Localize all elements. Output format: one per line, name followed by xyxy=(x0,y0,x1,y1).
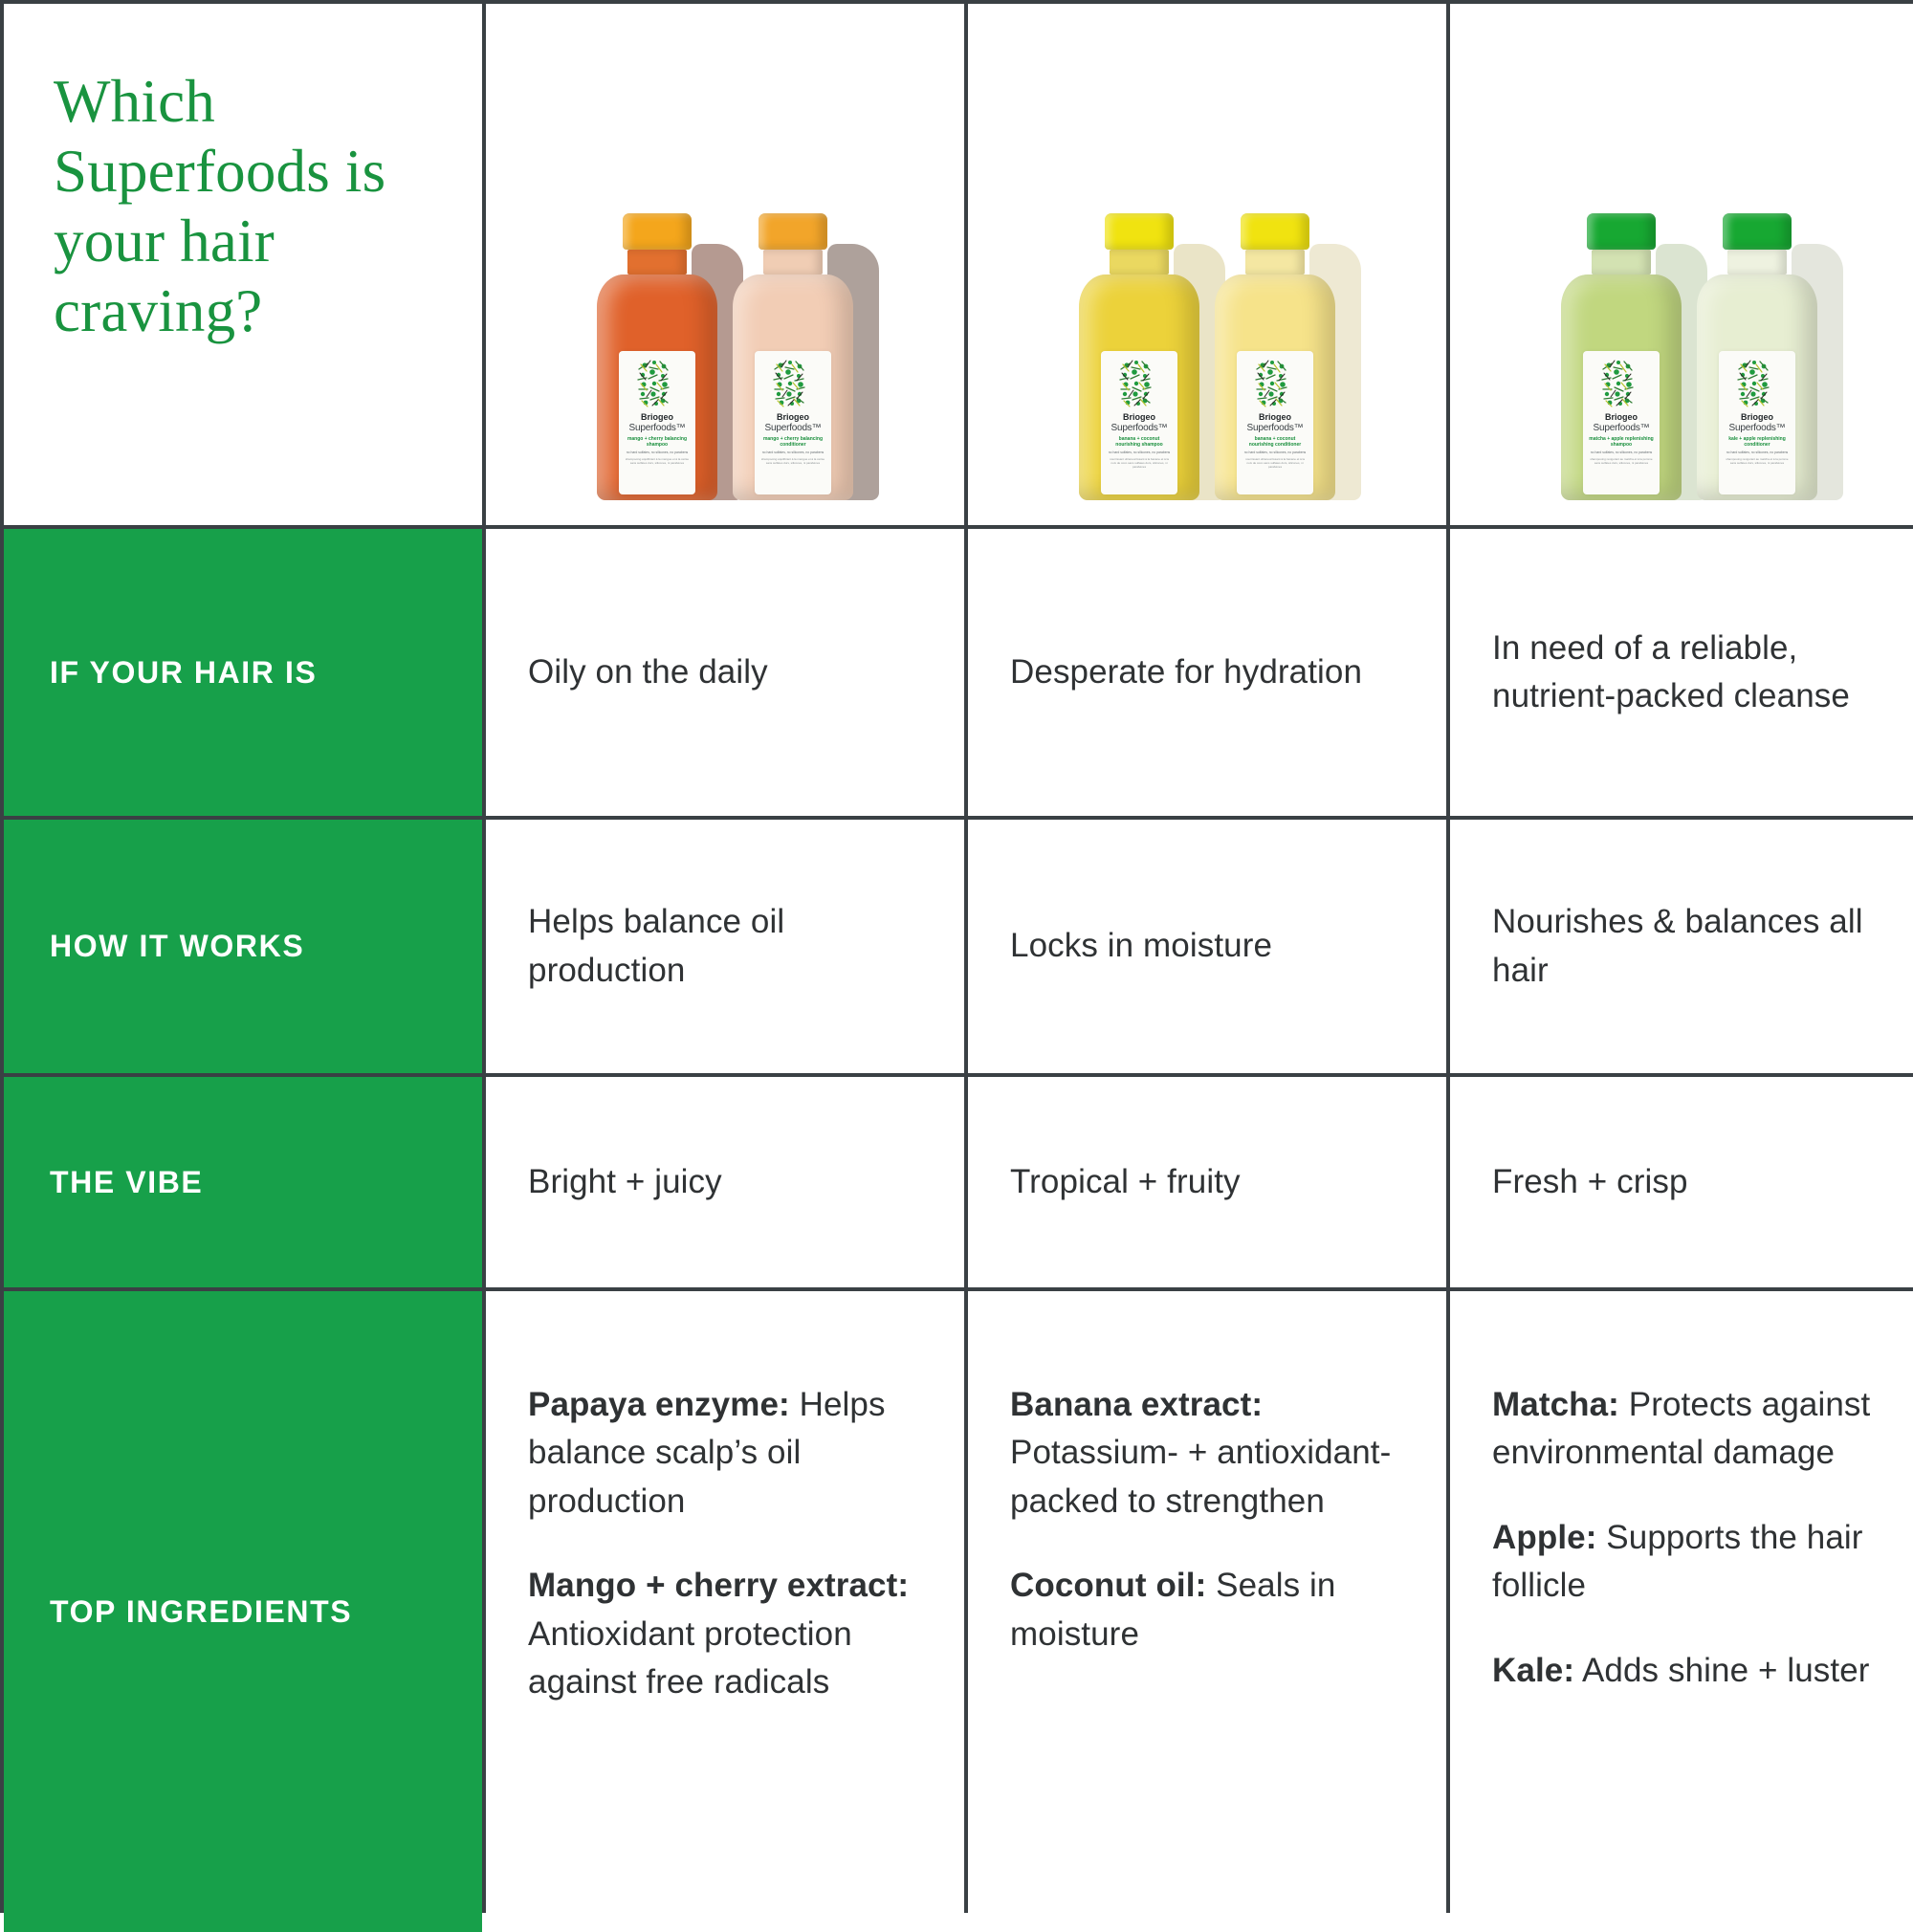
ingredient-item: Coconut oil: Seals in moisture xyxy=(1010,1562,1404,1658)
briogeo-b-logo-icon xyxy=(1599,358,1643,409)
ingredient-item: Apple: Supports the hair follicle xyxy=(1492,1514,1886,1611)
conditioner-bottle: Briogeo Superfoods™ kale + apple repleni… xyxy=(1694,213,1820,500)
ingredient-list: Papaya enzyme: Helps balance scalp’s oil… xyxy=(528,1381,922,1706)
row-label-the-vibe: THE VIBE xyxy=(4,1077,482,1287)
ingredient-term: Mango + cherry extract: xyxy=(528,1567,909,1604)
label-claims: no hard sulfates, no silicones, no parab… xyxy=(762,450,824,454)
ingredient-term: Kale: xyxy=(1492,1652,1574,1689)
bottle-body: Briogeo Superfoods™ matcha + apple reple… xyxy=(1561,274,1682,500)
row-label-top-ingredients: TOP INGREDIENTS xyxy=(4,1291,482,1932)
ingredient-term: Papaya enzyme: xyxy=(528,1386,790,1423)
briogeo-b-logo-icon xyxy=(1117,358,1161,409)
ingredient-term: Banana extract: xyxy=(1010,1386,1263,1423)
cell-text: Oily on the daily xyxy=(528,648,768,696)
conditioner-bottle: Briogeo Superfoods™ mango + cherry balan… xyxy=(730,213,856,500)
label-line: Superfoods™ xyxy=(1111,424,1168,433)
shampoo-bottle: Briogeo Superfoods™ mango + cherry balan… xyxy=(594,213,720,500)
row-label-text: THE VIBE xyxy=(50,1160,203,1204)
cell-how-it-works-col3: Nourishes & balances all hair xyxy=(1450,820,1913,1073)
briogeo-b-logo-icon xyxy=(771,358,815,409)
ingredient-item: Matcha: Protects against environmental d… xyxy=(1492,1381,1886,1478)
cell-vibe-col2: Tropical + fruity xyxy=(968,1077,1446,1287)
cell-text: Bright + juicy xyxy=(528,1158,722,1206)
briogeo-b-logo-icon xyxy=(1735,358,1779,409)
cell-text: In need of a reliable, nutrient-packed c… xyxy=(1492,625,1886,721)
ingredient-term: Matcha: xyxy=(1492,1386,1619,1423)
ingredient-term: Apple: xyxy=(1492,1519,1596,1556)
label-fine-print: shampooing équilibrant à la mangue et à … xyxy=(625,457,690,465)
page-title: Which Superfoods is your hair craving? xyxy=(54,67,444,346)
row-label-text: IF YOUR HAIR IS xyxy=(50,650,317,694)
cell-hair-is-col3: In need of a reliable, nutrient-packed c… xyxy=(1450,529,1913,816)
label-fine-print: shampooing équilibrant à la mangue et à … xyxy=(760,457,825,465)
row-label-if-your-hair-is: IF YOUR HAIR IS xyxy=(4,529,482,816)
bottle-cap xyxy=(1105,213,1174,250)
product-photo-banana-coconut: Briogeo Superfoods™ banana + coconut nou… xyxy=(968,4,1446,525)
bottle-pair: Briogeo Superfoods™ matcha + apple reple… xyxy=(1536,185,1842,500)
label-fine-print: nourrissant ultranourrissant à la banane… xyxy=(1242,457,1308,469)
cell-ingredients-col3: Matcha: Protects against environmental d… xyxy=(1450,1291,1913,1932)
bottle-neck xyxy=(1727,250,1787,274)
label-claims: no hard sulfates, no silicones, no parab… xyxy=(1109,450,1170,454)
bottle-cap xyxy=(759,213,827,250)
product-label: Briogeo Superfoods™ banana + coconut nou… xyxy=(1237,351,1313,494)
product-label: Briogeo Superfoods™ mango + cherry balan… xyxy=(619,351,695,494)
bottle-body: Briogeo Superfoods™ banana + coconut nou… xyxy=(1215,274,1335,500)
bottle-cap xyxy=(1587,213,1656,250)
row-label-how-it-works: HOW IT WORKS xyxy=(4,820,482,1073)
label-brand: Briogeo xyxy=(1605,413,1638,422)
cell-ingredients-col1: Papaya enzyme: Helps balance scalp’s oil… xyxy=(486,1291,964,1932)
label-claims: no hard sulfates, no silicones, no parab… xyxy=(627,450,688,454)
bottle-cap xyxy=(623,213,692,250)
row-label-text: HOW IT WORKS xyxy=(50,924,304,968)
label-claims: no hard sulfates, no silicones, no parab… xyxy=(1726,450,1788,454)
bottle-body: Briogeo Superfoods™ mango + cherry balan… xyxy=(597,274,717,500)
product-label: Briogeo Superfoods™ kale + apple repleni… xyxy=(1719,351,1795,494)
label-variant: mango + cherry balancing shampoo xyxy=(625,436,690,449)
label-brand: Briogeo xyxy=(641,413,673,422)
briogeo-b-logo-icon xyxy=(1253,358,1297,409)
label-fine-print: shampooing revigorant au matcha et à la … xyxy=(1589,457,1654,465)
cell-hair-is-col2: Desperate for hydration xyxy=(968,529,1446,816)
label-claims: no hard sulfates, no silicones, no parab… xyxy=(1591,450,1652,454)
ingredient-item: Kale: Adds shine + luster xyxy=(1492,1647,1886,1695)
shampoo-bottle: Briogeo Superfoods™ banana + coconut nou… xyxy=(1076,213,1202,500)
label-line: Superfoods™ xyxy=(1729,424,1786,433)
title-cell: Which Superfoods is your hair craving? xyxy=(4,4,482,525)
cell-hair-is-col1: Oily on the daily xyxy=(486,529,964,816)
label-line: Superfoods™ xyxy=(1594,424,1650,433)
label-variant: kale + apple replenishing conditioner xyxy=(1725,436,1790,449)
cell-vibe-col1: Bright + juicy xyxy=(486,1077,964,1287)
product-photo-mango-cherry: Briogeo Superfoods™ mango + cherry balan… xyxy=(486,4,964,525)
superfoods-comparison-table: Which Superfoods is your hair craving? xyxy=(0,0,1913,1913)
product-label: Briogeo Superfoods™ mango + cherry balan… xyxy=(755,351,831,494)
label-brand: Briogeo xyxy=(777,413,809,422)
ingredient-desc: Potassium- + antioxidant-packed to stren… xyxy=(1010,1434,1391,1519)
bottle-neck xyxy=(627,250,687,274)
bottle-neck xyxy=(763,250,823,274)
cell-how-it-works-col2: Locks in moisture xyxy=(968,820,1446,1073)
cell-vibe-col3: Fresh + crisp xyxy=(1450,1077,1913,1287)
bottle-cap xyxy=(1241,213,1309,250)
conditioner-bottle: Briogeo Superfoods™ banana + coconut nou… xyxy=(1212,213,1338,500)
label-claims: no hard sulfates, no silicones, no parab… xyxy=(1244,450,1306,454)
cell-text: Fresh + crisp xyxy=(1492,1158,1688,1206)
cell-text: Helps balance oil production xyxy=(528,898,922,995)
cell-text: Locks in moisture xyxy=(1010,922,1272,970)
cell-how-it-works-col1: Helps balance oil production xyxy=(486,820,964,1073)
label-fine-print: shampooing revigorant au matcha et à la … xyxy=(1725,457,1790,465)
ingredient-list: Matcha: Protects against environmental d… xyxy=(1492,1381,1886,1695)
briogeo-b-logo-icon xyxy=(635,358,679,409)
ingredient-item: Banana extract: Potassium- + antioxidant… xyxy=(1010,1381,1404,1526)
ingredient-list: Banana extract: Potassium- + antioxidant… xyxy=(1010,1381,1404,1658)
bottle-body: Briogeo Superfoods™ kale + apple repleni… xyxy=(1697,274,1817,500)
bottle-pair: Briogeo Superfoods™ mango + cherry balan… xyxy=(572,185,878,500)
shampoo-bottle: Briogeo Superfoods™ matcha + apple reple… xyxy=(1558,213,1684,500)
bottle-pair: Briogeo Superfoods™ banana + coconut nou… xyxy=(1054,185,1360,500)
bottle-body: Briogeo Superfoods™ mango + cherry balan… xyxy=(733,274,853,500)
label-variant: banana + coconut nourishing shampoo xyxy=(1107,436,1172,449)
product-photo-matcha-apple: Briogeo Superfoods™ matcha + apple reple… xyxy=(1450,4,1913,525)
label-fine-print: nourrissant ultranourrissant à la banane… xyxy=(1107,457,1172,469)
bottle-neck xyxy=(1245,250,1305,274)
cell-ingredients-col2: Banana extract: Potassium- + antioxidant… xyxy=(968,1291,1446,1932)
label-brand: Briogeo xyxy=(1259,413,1291,422)
label-variant: banana + coconut nourishing conditioner xyxy=(1242,436,1308,449)
label-variant: mango + cherry balancing conditioner xyxy=(760,436,825,449)
cell-text: Tropical + fruity xyxy=(1010,1158,1241,1206)
bottle-neck xyxy=(1592,250,1651,274)
ingredient-item: Papaya enzyme: Helps balance scalp’s oil… xyxy=(528,1381,922,1526)
label-line: Superfoods™ xyxy=(765,424,822,433)
bottle-body: Briogeo Superfoods™ banana + coconut nou… xyxy=(1079,274,1199,500)
ingredient-desc: Antioxidant protection against free radi… xyxy=(528,1615,852,1701)
ingredient-desc: Adds shine + luster xyxy=(1574,1652,1869,1689)
label-variant: matcha + apple replenishing shampoo xyxy=(1589,436,1654,449)
label-line: Superfoods™ xyxy=(1247,424,1304,433)
label-brand: Briogeo xyxy=(1741,413,1773,422)
bottle-cap xyxy=(1723,213,1792,250)
product-label: Briogeo Superfoods™ banana + coconut nou… xyxy=(1101,351,1177,494)
cell-text: Desperate for hydration xyxy=(1010,648,1362,696)
product-label: Briogeo Superfoods™ matcha + apple reple… xyxy=(1583,351,1660,494)
label-line: Superfoods™ xyxy=(629,424,686,433)
bottle-neck xyxy=(1110,250,1169,274)
label-brand: Briogeo xyxy=(1123,413,1155,422)
row-label-text: TOP INGREDIENTS xyxy=(50,1590,352,1634)
ingredient-term: Coconut oil: xyxy=(1010,1567,1206,1604)
ingredient-item: Mango + cherry extract: Antioxidant prot… xyxy=(528,1562,922,1706)
cell-text: Nourishes & balances all hair xyxy=(1492,898,1886,995)
